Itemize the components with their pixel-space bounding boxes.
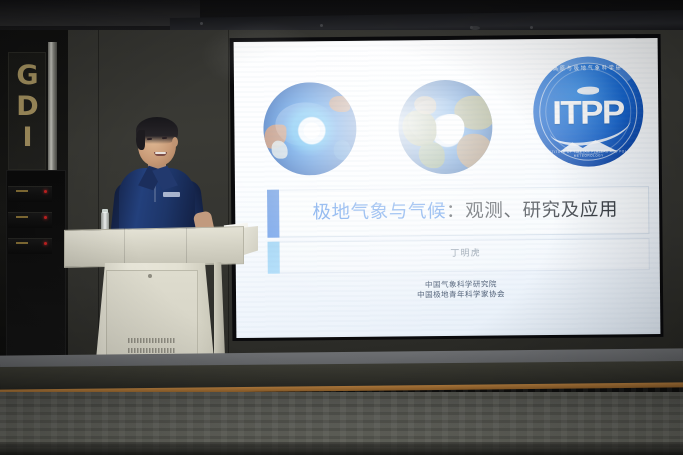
globe-ocean-feature xyxy=(334,140,351,160)
presenter-eye-right xyxy=(162,137,167,139)
globe-landmass xyxy=(272,141,288,159)
rack-slot xyxy=(8,212,52,228)
lectern-vent xyxy=(128,348,176,353)
presenter-hair-side xyxy=(136,130,145,150)
rack-led xyxy=(44,190,47,193)
globe-landmass xyxy=(329,96,350,112)
lectern-vent xyxy=(128,338,176,343)
logo-chinese-ring-text: 青藏高原与极地气象科学研究所 xyxy=(533,64,643,73)
slide-title: 极地气象与气候：观测、研究及应用 xyxy=(287,194,643,229)
wall-panel-seam xyxy=(98,30,99,370)
wall-panel-seam xyxy=(228,30,229,370)
rack-slot xyxy=(8,238,52,254)
rack-indicator-amber xyxy=(16,216,28,218)
globe-highlight xyxy=(275,102,335,147)
floor-shadow xyxy=(0,442,683,455)
presenter-eye-left xyxy=(147,138,152,140)
globe-antarctic-image xyxy=(263,82,357,176)
rack-led xyxy=(44,216,47,219)
presenter-ear xyxy=(172,137,178,147)
rack-indicator-amber xyxy=(16,242,28,244)
presentation-photo: GDI xyxy=(0,0,683,455)
wall-sign-text: GDI xyxy=(14,60,40,160)
projection-screen: 青藏高原与极地气象科学研究所 ITPP INSTITUTE OF TIBETAN… xyxy=(234,38,661,338)
ceiling-bolt xyxy=(320,24,323,27)
presenter-shirt-logo xyxy=(163,192,180,197)
globe-landmass xyxy=(456,134,492,170)
slide-footer: 中国气象科学研究院 中国极地青年科学家协会 xyxy=(272,278,650,302)
lectern-top-seam xyxy=(124,228,125,266)
lectern-top-seam xyxy=(186,228,187,266)
slide-title-accent-bar xyxy=(267,190,279,238)
ceiling-bolt xyxy=(530,26,533,29)
slide-title-blue-part: 极地气象与气候 xyxy=(312,201,446,223)
ceiling-bolt xyxy=(200,22,203,25)
lectern-knob xyxy=(148,274,152,278)
logo-english-ring-text: INSTITUTE OF TIBETAN PLATEAU AND POLAR M… xyxy=(534,149,644,158)
rack-led xyxy=(44,242,47,245)
rack-indicator-amber xyxy=(16,190,28,192)
lectern-top xyxy=(64,226,244,268)
itpp-logo: 青藏高原与极地气象科学研究所 ITPP INSTITUTE OF TIBETAN… xyxy=(533,56,644,167)
globe-arctic-image xyxy=(398,80,493,175)
slide-subtitle-accent-bar xyxy=(268,242,280,274)
globe-landmass xyxy=(419,142,445,168)
presenter-teeth xyxy=(155,152,166,154)
rack-slot xyxy=(8,186,52,202)
slide-title-dark-part: ：观测、研究及应用 xyxy=(446,199,618,222)
